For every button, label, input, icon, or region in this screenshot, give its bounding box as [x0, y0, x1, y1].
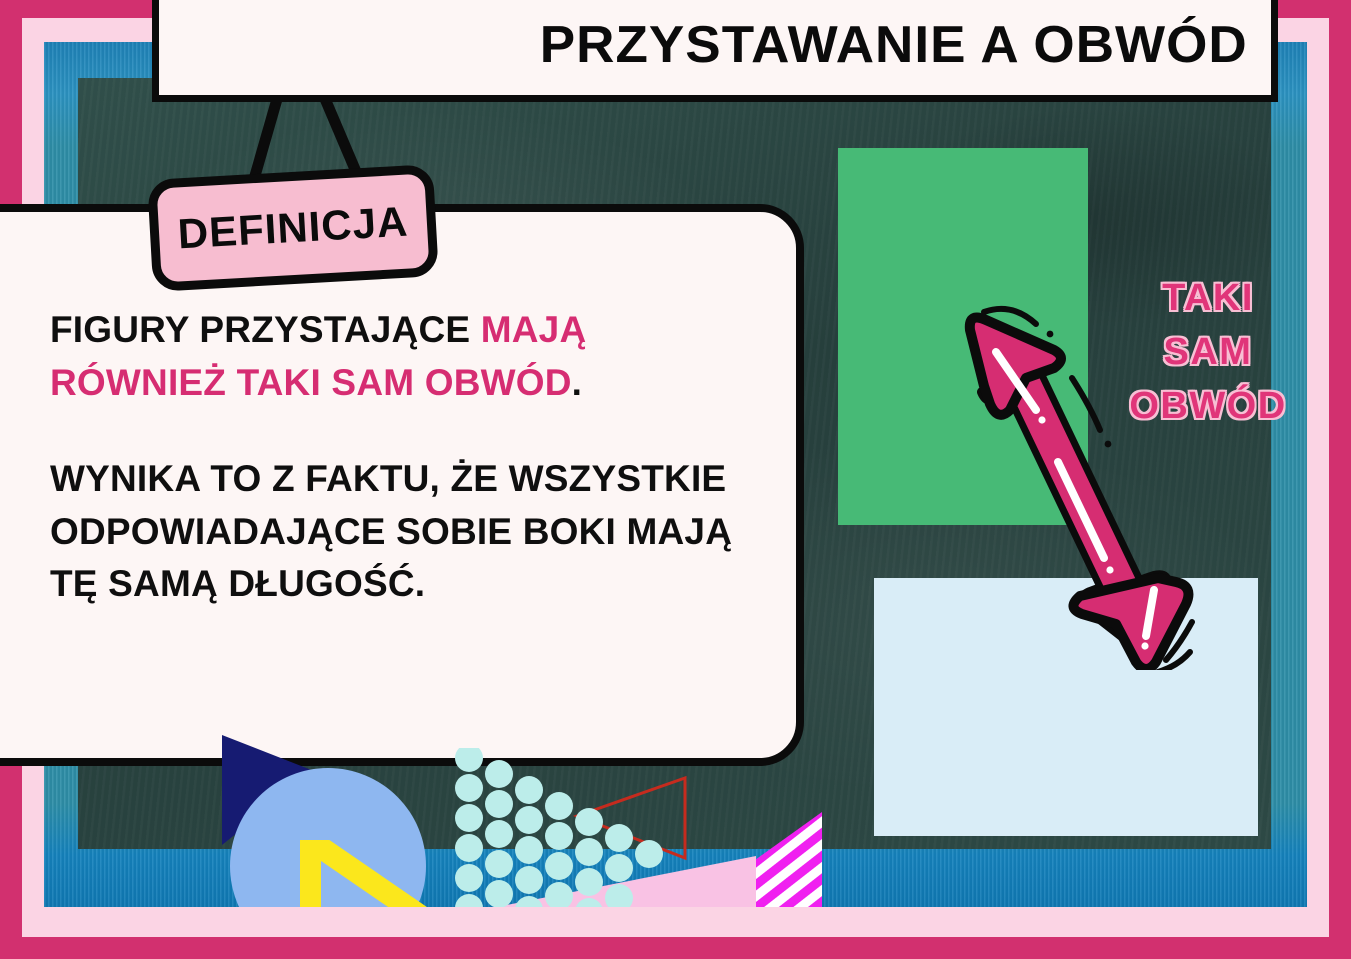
definition-paragraph-1: FIGURY PRZYSTAJĄCE MAJĄ RÓWNIEŻ TAKI SAM… [50, 304, 736, 409]
label-line-3: OBWÓD [1108, 380, 1308, 434]
label-line-1: TAKI [1108, 272, 1308, 326]
page-title: PRZYSTAWANIE A OBWÓD [540, 15, 1279, 75]
bottom-pink-band [22, 907, 1329, 937]
definition-badge-label: DEFINICJA [176, 198, 409, 259]
bottom-magenta-band [0, 937, 1351, 959]
definition-plain-text: FIGURY PRZYSTAJĄCE [50, 309, 481, 350]
definition-badge: DEFINICJA [147, 164, 439, 292]
definition-card: FIGURY PRZYSTAJĄCE MAJĄ RÓWNIEŻ TAKI SAM… [0, 204, 804, 766]
label-line-2: SAM [1108, 326, 1308, 380]
definition-period: . [572, 362, 582, 403]
title-card: PRZYSTAWANIE A OBWÓD [152, 0, 1278, 102]
same-perimeter-label: TAKI SAM OBWÓD [1108, 272, 1308, 434]
slide-canvas: TAKI SAM OBWÓD [0, 0, 1351, 959]
definition-paragraph-2: WYNIKA TO Z FAKTU, ŻE WSZYSTKIE ODPOWIAD… [50, 453, 736, 611]
